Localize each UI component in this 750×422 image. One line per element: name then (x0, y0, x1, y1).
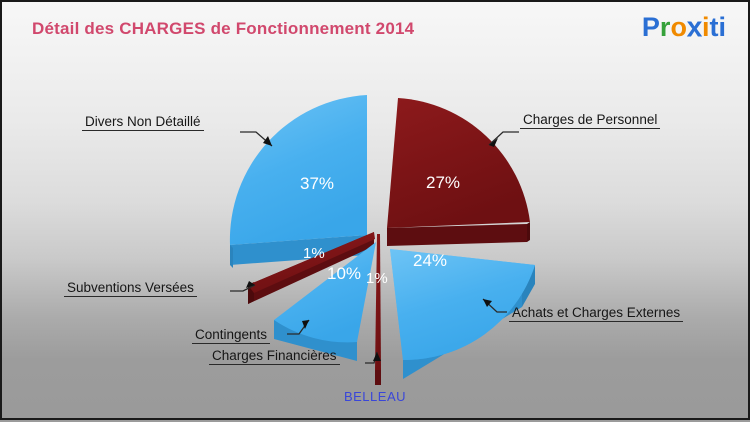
chart-card: Détail des CHARGES de Fonctionnement 201… (0, 0, 750, 420)
pie-chart: 37% 27% 24% 1% 10% 1% Divers Non Détaill… (2, 2, 750, 422)
callout-charges-financieres: Charges Financières (209, 348, 340, 365)
pie-chart-svg (2, 2, 750, 422)
slice-top-financieres (375, 234, 381, 370)
slice-side-personnel-edge (527, 222, 530, 242)
callout-divers-non-detaille: Divers Non Détaillé (82, 114, 204, 131)
callout-achats-et-charges-externes: Achats et Charges Externes (509, 305, 683, 322)
slice-top-personnel (387, 98, 530, 228)
slice-side-financieres (375, 370, 381, 385)
slice-side-personnel (387, 224, 527, 246)
commune-name: BELLEAU (2, 389, 748, 404)
callout-subventions-versees: Subventions Versées (64, 280, 197, 297)
callout-contingents: Contingents (192, 327, 270, 344)
slice-side-divers-edge (230, 245, 233, 268)
slice-top-divers (230, 95, 367, 245)
callout-charges-de-personnel: Charges de Personnel (520, 112, 660, 129)
